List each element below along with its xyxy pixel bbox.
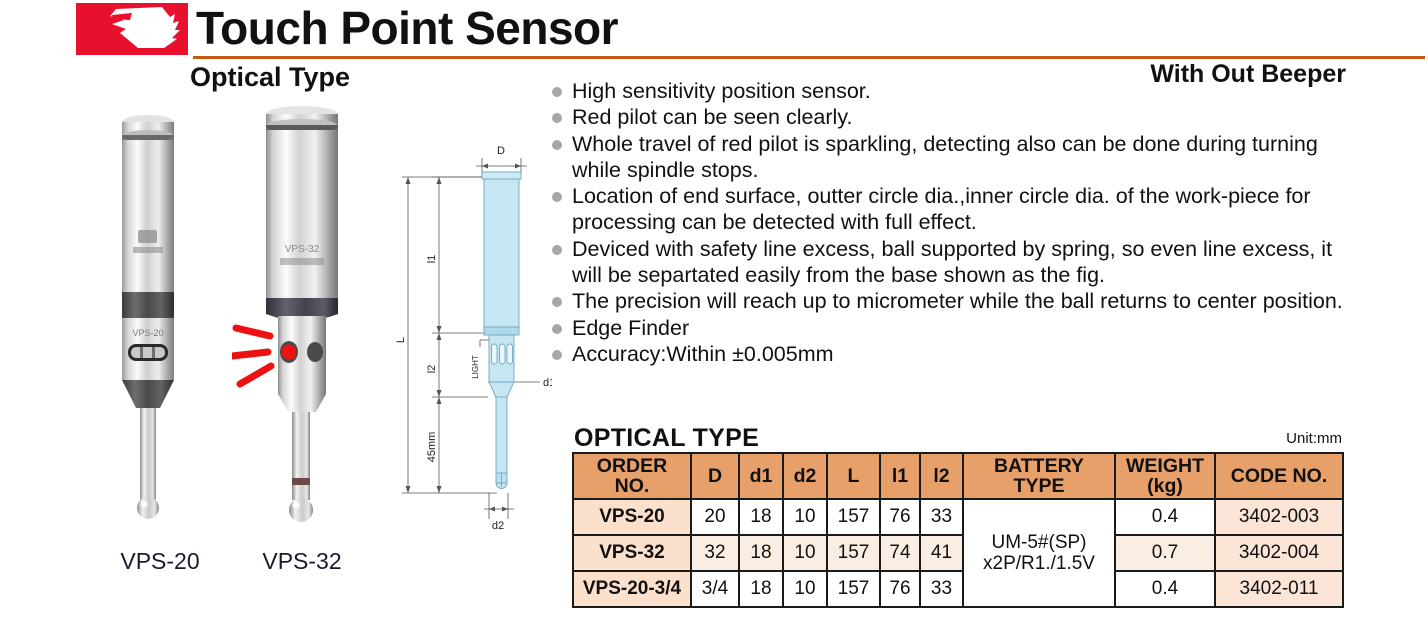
feature-item: Accuracy:Within ±0.005mm xyxy=(552,341,1352,367)
bullet-icon xyxy=(552,324,562,334)
col-l2: l2 xyxy=(920,453,963,499)
feature-list: High sensitivity position sensor. Red pi… xyxy=(552,78,1352,367)
col-weight: WEIGHT (kg) xyxy=(1115,453,1215,499)
col-d1: d1 xyxy=(739,453,783,499)
cell-l1: 76 xyxy=(880,499,920,535)
cell-battery-type: UM-5#(SP) x2P/R1./1.5V xyxy=(963,499,1115,607)
cell-order-no: VPS-20 xyxy=(573,499,691,535)
cell-d1: 18 xyxy=(739,535,783,571)
cell-D: 20 xyxy=(691,499,739,535)
col-code-no: CODE NO. xyxy=(1215,453,1343,499)
drawing-label-d1: d1 xyxy=(543,377,552,389)
feature-text: The precision will reach up to micromete… xyxy=(572,289,1343,313)
cell-order-no: VPS-32 xyxy=(573,535,691,571)
cell-D: 32 xyxy=(691,535,739,571)
feature-text: High sensitivity position sensor. xyxy=(572,79,871,103)
photo-caption-vps-32: VPS-32 xyxy=(232,548,372,575)
eagle-head-logo-icon xyxy=(76,3,188,55)
cell-d2: 10 xyxy=(783,535,827,571)
bullet-icon xyxy=(552,192,562,202)
table-row: VPS-32 32 18 10 157 74 41 0.7 3402-004 xyxy=(573,535,1343,571)
cell-d1: 18 xyxy=(739,499,783,535)
feature-text: Red pilot can be seen clearly. xyxy=(572,105,852,129)
drawing-label-l2: l2 xyxy=(426,365,438,374)
spec-table-title: OPTICAL TYPE xyxy=(574,424,759,453)
col-L: L xyxy=(827,453,880,499)
product-photo-vps-20: VPS-20 xyxy=(100,108,220,538)
feature-item: High sensitivity position sensor. xyxy=(552,78,1352,104)
cell-code-no: 3402-004 xyxy=(1215,535,1343,571)
svg-text:VPS-32: VPS-32 xyxy=(285,244,320,255)
cell-D: 3/4 xyxy=(691,571,739,607)
feature-item: Location of end surface, outter circle d… xyxy=(552,183,1352,236)
cell-d1: 18 xyxy=(739,571,783,607)
feature-item: Whole travel of red pilot is sparkling, … xyxy=(552,131,1352,184)
bullet-icon xyxy=(552,245,562,255)
feature-text: Accuracy:Within ±0.005mm xyxy=(572,342,834,366)
cell-d2: 10 xyxy=(783,571,827,607)
drawing-label-d2: d2 xyxy=(492,520,504,532)
cell-weight: 0.4 xyxy=(1115,499,1215,535)
drawing-label-light: LIGHT xyxy=(471,355,480,379)
specification-table: ORDER NO. D d1 d2 L l1 l2 BATTERY TYPE W… xyxy=(572,452,1344,608)
bullet-icon xyxy=(552,350,562,360)
drawing-label-D: D xyxy=(497,145,505,157)
unit-label: Unit:mm xyxy=(1286,430,1342,447)
feature-text: Whole travel of red pilot is sparkling, … xyxy=(572,132,1318,182)
feature-text: Deviced with safety line excess, ball su… xyxy=(572,237,1332,287)
cell-weight: 0.7 xyxy=(1115,535,1215,571)
svg-text:VPS-20: VPS-20 xyxy=(132,328,163,338)
col-battery-type: BATTERY TYPE xyxy=(963,453,1115,499)
table-row: VPS-20 20 18 10 157 76 33 UM-5#(SP) x2P/… xyxy=(573,499,1343,535)
feature-item: The precision will reach up to micromete… xyxy=(552,288,1352,314)
drawing-label-L: L xyxy=(395,337,407,343)
feature-item: Deviced with safety line excess, ball su… xyxy=(552,236,1352,289)
cell-order-no: VPS-20-3/4 xyxy=(573,571,691,607)
col-D: D xyxy=(691,453,739,499)
table-header-row: ORDER NO. D d1 d2 L l1 l2 BATTERY TYPE W… xyxy=(573,453,1343,499)
cell-weight: 0.4 xyxy=(1115,571,1215,607)
feature-text: Edge Finder xyxy=(572,316,689,340)
bullet-icon xyxy=(552,113,562,123)
cell-L: 157 xyxy=(827,499,880,535)
cell-code-no: 3402-011 xyxy=(1215,571,1343,607)
cell-code-no: 3402-003 xyxy=(1215,499,1343,535)
header-divider xyxy=(193,56,1425,59)
drawing-label-45mm: 45mm xyxy=(426,432,438,463)
photo-caption-vps-20: VPS-20 xyxy=(100,548,220,575)
cell-l2: 33 xyxy=(920,571,963,607)
page-subtitle: Optical Type xyxy=(190,62,350,93)
cell-l2: 41 xyxy=(920,535,963,571)
cell-l1: 76 xyxy=(880,571,920,607)
cell-d2: 10 xyxy=(783,499,827,535)
feature-item: Red pilot can be seen clearly. xyxy=(552,104,1352,130)
cell-l2: 33 xyxy=(920,499,963,535)
cell-l1: 74 xyxy=(880,535,920,571)
feature-item: Edge Finder xyxy=(552,315,1352,341)
bullet-icon xyxy=(552,297,562,307)
table-row: VPS-20-3/4 3/4 18 10 157 76 33 0.4 3402-… xyxy=(573,571,1343,607)
product-photo-vps-32: VPS-32 xyxy=(232,100,372,540)
cell-L: 157 xyxy=(827,571,880,607)
feature-text: Location of end surface, outter circle d… xyxy=(572,184,1311,234)
bullet-icon xyxy=(552,140,562,150)
cell-L: 157 xyxy=(827,535,880,571)
col-d2: d2 xyxy=(783,453,827,499)
bullet-icon xyxy=(552,87,562,97)
technical-drawing: D d1 d2 L l1 l2 45mm LIGHT xyxy=(392,135,552,535)
col-l1: l1 xyxy=(880,453,920,499)
col-order-no: ORDER NO. xyxy=(573,453,691,499)
drawing-label-l1: l1 xyxy=(426,255,438,264)
page-title: Touch Point Sensor xyxy=(196,2,618,54)
